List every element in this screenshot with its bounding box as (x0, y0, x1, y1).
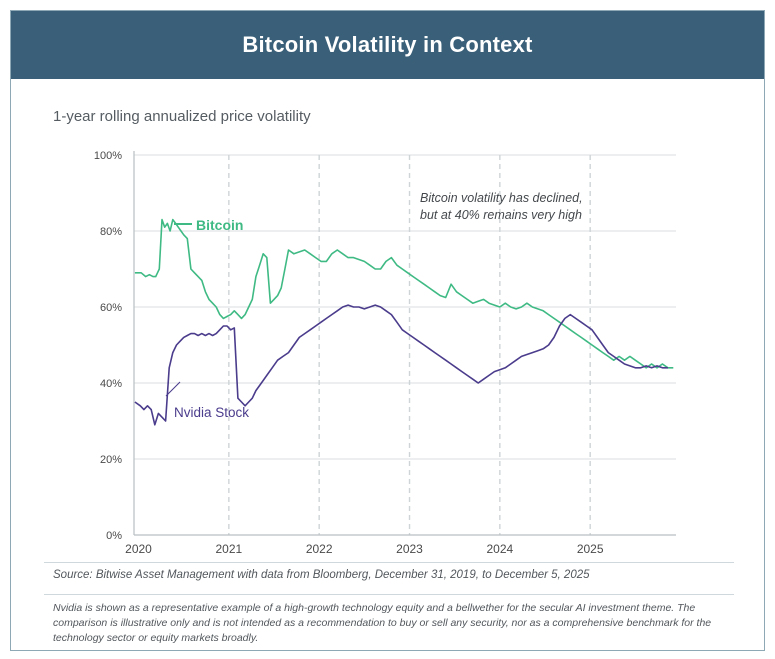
page-title: Bitcoin Volatility in Context (242, 32, 532, 58)
header-banner: Bitcoin Volatility in Context (11, 11, 764, 79)
annotation-line-2: but at 40% remains very high (420, 207, 583, 224)
divider-top (44, 562, 734, 563)
series-label-nvidia: Nvidia Stock (174, 405, 249, 420)
chart-page: Bitcoin Volatility in Context 1-year rol… (0, 0, 775, 659)
source-note: Source: Bitwise Asset Management with da… (53, 569, 590, 581)
page-frame (10, 10, 765, 651)
series-label-bitcoin: Bitcoin (196, 217, 243, 233)
chart-annotation: Bitcoin volatility has declined, but at … (420, 190, 583, 224)
divider-bottom (44, 594, 734, 595)
annotation-line-1: Bitcoin volatility has declined, (420, 190, 583, 207)
chart-subtitle: 1-year rolling annualized price volatili… (53, 108, 311, 125)
disclaimer-note: Nvidia is shown as a representative exam… (53, 601, 725, 646)
